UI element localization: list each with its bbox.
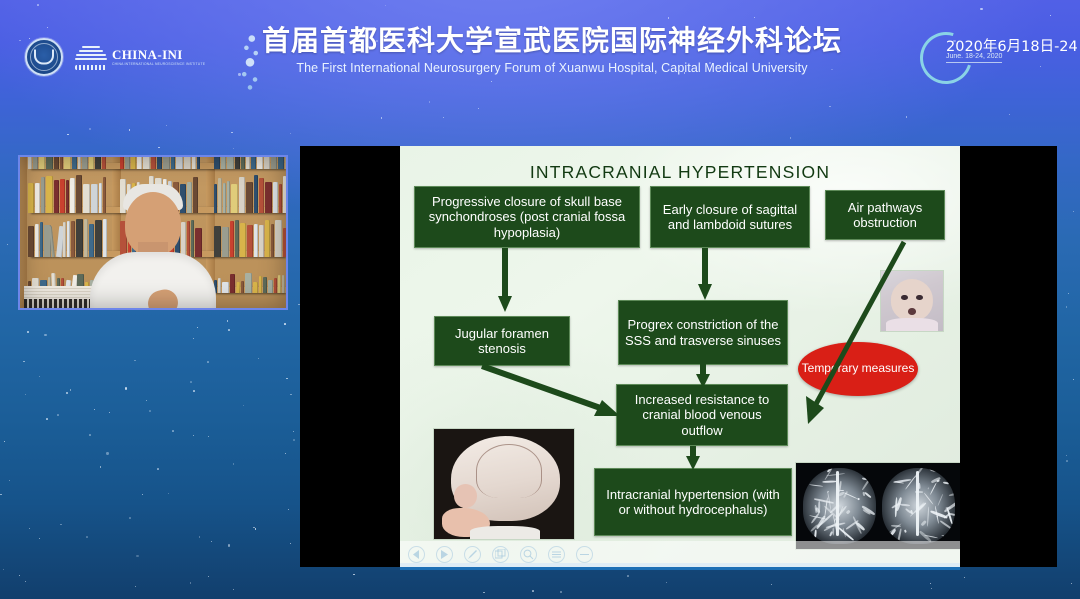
screen: CHINA-INI CHINA INTERNATIONAL NEUROSCIEN… (0, 0, 1080, 599)
forum-title-cn: 首届首都医科大学宣武医院国际神经外科论坛 (232, 26, 872, 56)
flow-box-air-pathways: Air pathways obstruction (825, 190, 945, 240)
logo-group: CHINA-INI CHINA INTERNATIONAL NEUROSCIEN… (25, 38, 205, 76)
hospital-seal-icon (25, 38, 63, 76)
flow-box-sutures: Early closure of sagittal and lambdoid s… (650, 186, 810, 248)
list-icon[interactable] (548, 546, 565, 563)
layers-icon[interactable] (492, 546, 509, 563)
page-header: CHINA-INI CHINA INTERNATIONAL NEUROSCIEN… (0, 0, 1080, 108)
arrow-sutures-to-sss (696, 248, 716, 302)
screen-share-area[interactable]: INTRACRANIAL HYPERTENSION Progressive cl… (300, 146, 1057, 567)
presentation-toolbar[interactable] (400, 541, 960, 567)
arrow-venous-to-final (684, 446, 704, 472)
video-vignette (20, 157, 286, 308)
event-date-en: June. 18-24, 2020 (946, 53, 1002, 63)
flow-box-final: Intracranial hypertension (with or witho… (594, 468, 792, 536)
minus-icon[interactable] (576, 546, 593, 563)
flow-box-skull-base: Progressive closure of skull base syncho… (414, 186, 640, 248)
china-ini-label: CHINA-INI (112, 48, 205, 61)
venogram-photo (795, 462, 960, 550)
speaker-video-tile[interactable] (18, 155, 288, 310)
arrow-airpathways-to-temporary (800, 238, 930, 438)
chevron-left-icon[interactable] (408, 546, 425, 563)
slide-title: INTRACRANIAL HYPERTENSION (400, 162, 960, 183)
flow-box-jugular: Jugular foramen stenosis (434, 316, 570, 366)
arrow-jugular-to-venous (480, 364, 624, 426)
china-ini-sublabel: CHINA INTERNATIONAL NEUROSCIENCE INSTITU… (112, 63, 205, 66)
forum-title-block: 首届首都医科大学宣武医院国际神经外科论坛 The First Internati… (232, 26, 872, 75)
magnifier-icon[interactable] (520, 546, 537, 563)
presentation-slide: INTRACRANIAL HYPERTENSION Progressive cl… (400, 146, 960, 567)
infant-head-photo (433, 428, 575, 540)
arrow-skullbase-to-jugular (496, 248, 516, 314)
flow-box-sss: Progrex constriction of the SSS and tras… (618, 300, 788, 365)
event-date-badge: 2020年6月18日-24日 June. 18-24, 2020 (928, 31, 1058, 81)
share-underline (400, 567, 960, 570)
china-ini-logo: CHINA-INI CHINA INTERNATIONAL NEUROSCIEN… (75, 44, 205, 70)
china-ini-building-icon (75, 44, 107, 70)
forum-title-en: The First International Neurosurgery For… (232, 61, 872, 75)
pen-icon[interactable] (464, 546, 481, 563)
neuron-figure-icon (232, 28, 268, 94)
arrow-sss-to-venous (694, 364, 714, 390)
flow-box-venous-outflow: Increased resistance to cranial blood ve… (616, 384, 788, 446)
chevron-right-icon[interactable] (436, 546, 453, 563)
